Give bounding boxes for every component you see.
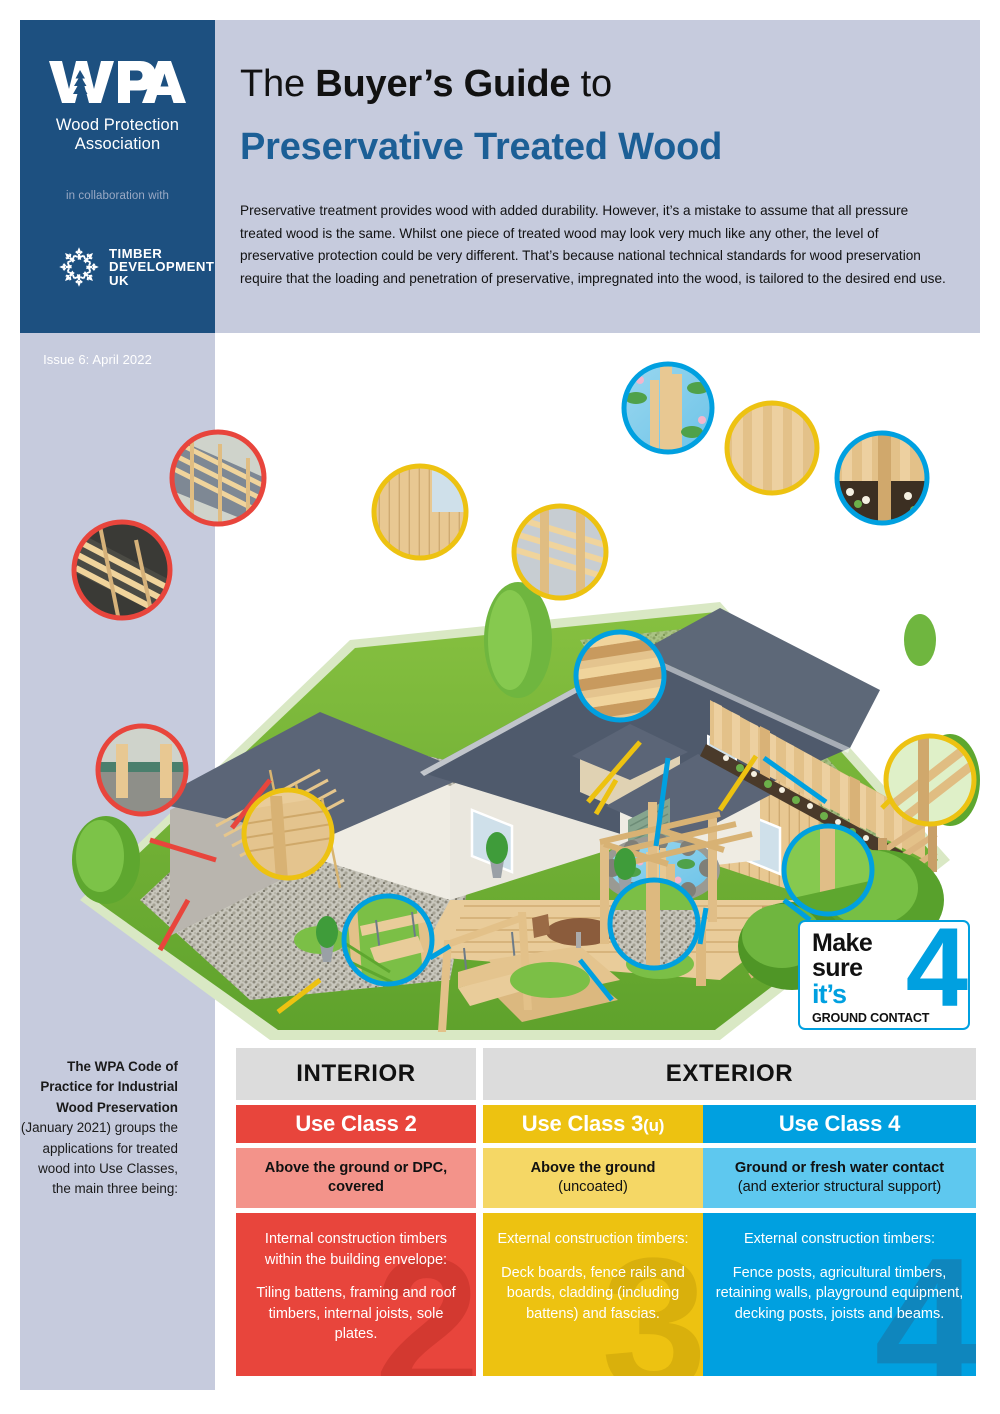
use-class-4-desc-light: (and exterior structural support) <box>738 1179 942 1195</box>
title-suffix: to <box>570 63 612 105</box>
use-class-2-body-line-2: Tiling battens, framing and roof timbers… <box>248 1283 464 1345</box>
use-class-3u-body: 3 External construction timbers: Deck bo… <box>483 1213 703 1376</box>
caption-rest: (January 2021) groups the applications f… <box>21 1120 178 1196</box>
callout-use-class-2-a <box>170 432 272 540</box>
badge-footer: GROUND CONTACT <box>812 1012 929 1025</box>
partner-line-3: UK <box>109 273 129 288</box>
callout-use-class-4-a <box>624 360 714 456</box>
use-class-4-description: Ground or fresh water contact(and exteri… <box>703 1148 976 1208</box>
use-class-3u-description: Above the ground(uncoated) <box>483 1148 703 1208</box>
title-emphasis: Buyer’s Guide <box>315 63 570 105</box>
wpa-logo: Wood Protection Association <box>20 56 215 154</box>
timber-development-uk-snowflake-icon <box>58 246 100 288</box>
use-class-table: INTERIOR Use Class 2 Above the ground or… <box>236 1048 976 1390</box>
wpa-subtitle-line1: Wood Protection <box>56 116 179 134</box>
use-class-3u-body-line-2: Deck boards, fence rails and boards, cla… <box>495 1263 691 1325</box>
callout-use-class-4-b <box>837 428 927 524</box>
use-class-4-body-line-1: External construction timbers: <box>715 1229 964 1250</box>
page-title: The Buyer’s Guide to <box>240 63 612 105</box>
use-class-3u-desc-bold: Above the ground <box>531 1160 656 1176</box>
use-class-3u-label: Use Class 3 <box>522 1111 643 1136</box>
use-class-2-desc-bold: Above the ground or DPC, covered <box>265 1160 447 1196</box>
use-class-column-3u: Use Class 3(u) Above the ground(uncoated… <box>483 1048 703 1376</box>
use-class-4-body-line-2: Fence posts, agricultural timbers, retai… <box>715 1263 964 1325</box>
badge-line-3: it’s <box>812 981 846 1008</box>
use-class-column-4: Use Class 4 Ground or fresh water contac… <box>703 1048 976 1376</box>
badge-big-number: 4 <box>906 920 964 1024</box>
wpa-subtitle: Wood Protection Association <box>20 116 215 154</box>
make-sure-use-class-4-badge: 4 Make sure it’s Use Class 4 GROUND CONT… <box>798 920 970 1030</box>
use-class-intro-caption: The WPA Code of Practice for Industrial … <box>18 1057 178 1200</box>
caption-bold: The WPA Code of Practice for Industrial … <box>40 1059 178 1115</box>
use-class-2-body-line-1: Internal construction timbers within the… <box>248 1229 464 1270</box>
use-class-2-description: Above the ground or DPC, covered <box>236 1148 476 1208</box>
use-class-4-label: Use Class 4 <box>779 1111 900 1136</box>
use-class-4-title: Use Class 4 <box>703 1105 976 1143</box>
title-prefix: The <box>240 63 315 105</box>
badge-use-class-label: Use Class 4 <box>862 991 941 1006</box>
partner-logo: TIMBER DEVELOPMENT UK <box>58 246 218 288</box>
use-class-2-body: 2 Internal construction timbers within t… <box>236 1213 476 1376</box>
callout-use-class-2-b <box>74 522 172 634</box>
brand-logo-panel: Wood Protection Association in collabora… <box>20 20 215 333</box>
use-class-2-label: Use Class 2 <box>295 1111 416 1136</box>
use-class-3u-body-line-1: External construction timbers: <box>495 1229 691 1250</box>
intro-paragraph: Preservative treatment provides wood wit… <box>240 200 950 290</box>
group-header-interior: INTERIOR <box>236 1048 476 1100</box>
use-class-4-body: 4 External construction timbers: Fence p… <box>703 1213 976 1376</box>
use-class-3u-title: Use Class 3(u) <box>483 1105 703 1143</box>
badge-line-1: Make <box>812 931 872 956</box>
callout-use-class-3-a <box>374 466 466 558</box>
use-class-column-2: INTERIOR Use Class 2 Above the ground or… <box>236 1048 476 1376</box>
callout-use-class-3-d <box>727 398 817 510</box>
collaboration-label: in collaboration with <box>20 190 215 202</box>
use-class-3u-suffix: (u) <box>643 1116 664 1135</box>
partner-name: TIMBER DEVELOPMENT UK <box>109 247 214 287</box>
use-class-4-desc-bold: Ground or fresh water contact <box>735 1160 944 1176</box>
callout-use-class-3-c <box>244 790 332 880</box>
use-class-2-title: Use Class 2 <box>236 1105 476 1143</box>
group-header-interior-label: INTERIOR <box>296 1060 415 1088</box>
page-subtitle: Preservative Treated Wood <box>240 125 722 169</box>
badge-line-2: sure <box>812 956 862 981</box>
use-class-3u-desc-light: (uncoated) <box>558 1179 628 1195</box>
wpa-subtitle-line2: Association <box>75 135 160 153</box>
wpa-wordmark-icon <box>48 56 188 108</box>
